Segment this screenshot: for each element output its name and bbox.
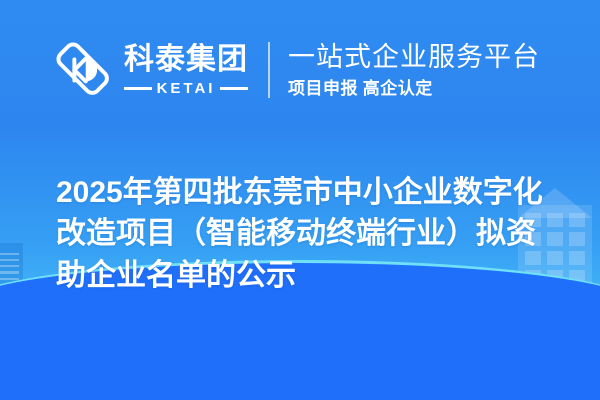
brand-logo[interactable]: 科泰集团 KETAI: [56, 42, 248, 98]
publicity-banner: 科泰集团 KETAI 一站式企业服务平台 项目申报 高企认定 2025年第四批东…: [0, 0, 600, 400]
brand-name-cn: 科泰集团: [124, 45, 248, 75]
window-stripe: [0, 253, 19, 255]
wordmark-rule-right: [220, 87, 248, 90]
tagline-primary: 一站式企业服务平台: [288, 42, 540, 72]
header-divider: [268, 42, 270, 98]
banner-header: 科泰集团 KETAI 一站式企业服务平台 项目申报 高企认定: [0, 0, 600, 140]
brand-name-en: KETAI: [157, 81, 216, 96]
page-title: 2025年第四批东莞市中小企业数字化改造项目（智能移动终端行业）拟资助企业名单的…: [56, 172, 564, 296]
brand-tagline: 一站式企业服务平台 项目申报 高企认定: [288, 42, 540, 97]
window-cell: [569, 213, 585, 227]
wordmark-rule-left: [124, 87, 152, 90]
tagline-secondary: 项目申报 高企认定: [288, 79, 540, 98]
brand-name-en-row: KETAI: [124, 81, 248, 96]
brand-wordmark: 科泰集团 KETAI: [124, 45, 248, 96]
window-cell: [569, 232, 585, 246]
ketai-kd-monogram-icon: [56, 42, 112, 98]
